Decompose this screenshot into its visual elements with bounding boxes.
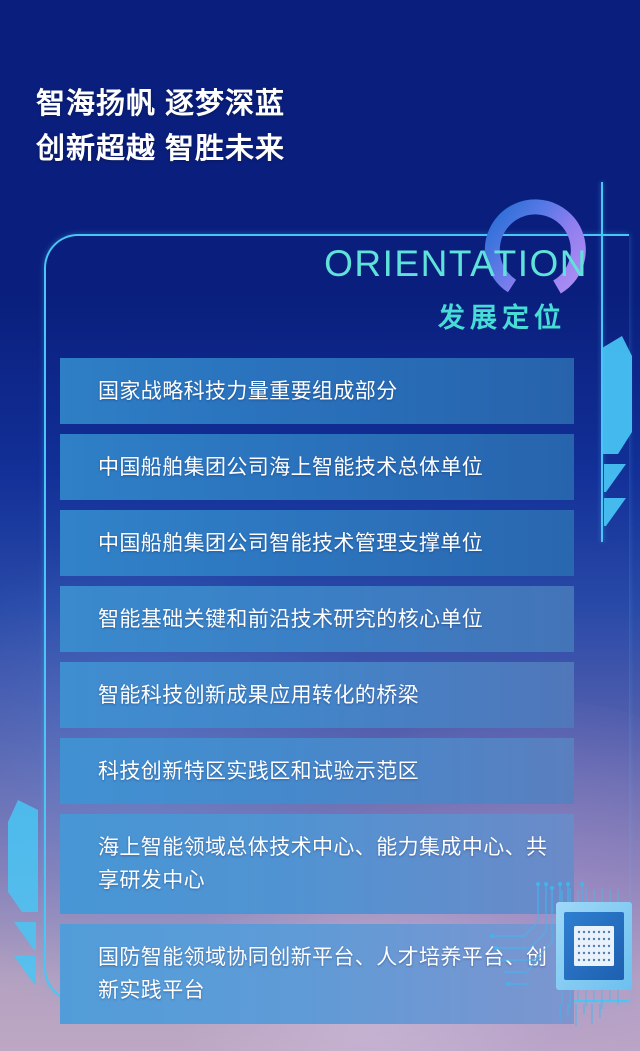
list-item[interactable]: 智能基础关键和前沿技术研究的核心单位 bbox=[60, 586, 574, 652]
orientation-list: 国家战略科技力量重要组成部分 中国船舶集团公司海上智能技术总体单位 中国船舶集团… bbox=[60, 358, 574, 1034]
list-item-label: 中国船舶集团公司智能技术管理支撑单位 bbox=[98, 527, 483, 560]
chevron-stripe-left-icon bbox=[0, 800, 48, 990]
list-item-label: 科技创新特区实践区和试验示范区 bbox=[98, 755, 419, 788]
headline-line-2: 创新超越 智胜未来 bbox=[36, 127, 285, 172]
list-item-label: 中国船舶集团公司海上智能技术总体单位 bbox=[98, 451, 483, 484]
cpu-chip-icon bbox=[548, 882, 640, 1010]
list-item[interactable]: 智能科技创新成果应用转化的桥梁 bbox=[60, 662, 574, 728]
section-title-en: ORIENTATION bbox=[324, 242, 588, 286]
list-item[interactable]: 国家战略科技力量重要组成部分 bbox=[60, 358, 574, 424]
list-item[interactable]: 中国船舶集团公司海上智能技术总体单位 bbox=[60, 434, 574, 500]
list-item-label: 智能基础关键和前沿技术研究的核心单位 bbox=[98, 603, 483, 636]
headline-line-1: 智海扬帆 逐梦深蓝 bbox=[36, 82, 285, 127]
list-item[interactable]: 中国船舶集团公司智能技术管理支撑单位 bbox=[60, 510, 574, 576]
list-item[interactable]: 国防智能领域协同创新平台、人才培养平台、创新实践平台 bbox=[60, 924, 574, 1024]
list-item-label: 智能科技创新成果应用转化的桥梁 bbox=[98, 679, 419, 712]
headline: 智海扬帆 逐梦深蓝 创新超越 智胜未来 bbox=[36, 82, 285, 172]
section-title-cn: 发展定位 bbox=[438, 301, 566, 335]
list-item-label: 海上智能领域总体技术中心、能力集成中心、共享研发中心 bbox=[98, 831, 554, 897]
list-item[interactable]: 科技创新特区实践区和试验示范区 bbox=[60, 738, 574, 804]
poster-root: 智海扬帆 逐梦深蓝 创新超越 智胜未来 ORIENTATION 发展定位 国家战… bbox=[0, 0, 640, 1051]
list-item-label: 国防智能领域协同创新平台、人才培养平台、创新实践平台 bbox=[98, 941, 554, 1007]
list-item-label: 国家战略科技力量重要组成部分 bbox=[98, 375, 398, 408]
chevron-stripe-right-icon bbox=[592, 336, 640, 536]
list-item[interactable]: 海上智能领域总体技术中心、能力集成中心、共享研发中心 bbox=[60, 814, 574, 914]
